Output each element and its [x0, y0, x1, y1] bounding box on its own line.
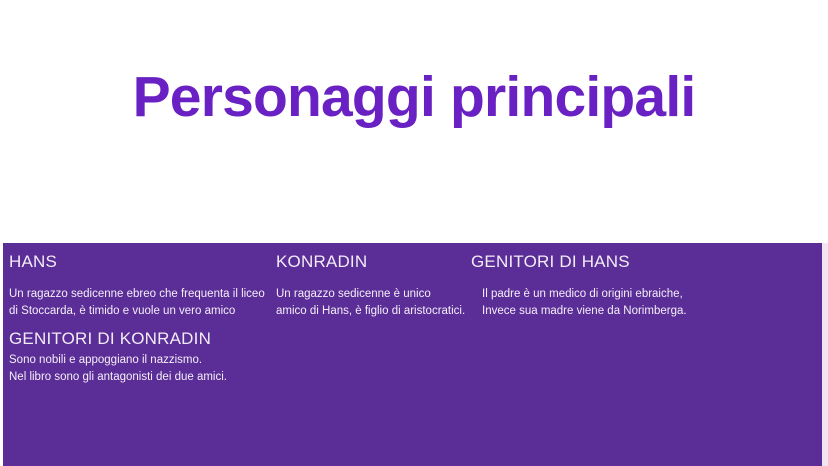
character-block-genitori-di-konradin: GENITORI DI KONRADIN Sono nobili e appog…: [9, 329, 227, 386]
slide-canvas: Personaggi principali HANS Un ragazzo se…: [0, 0, 828, 466]
band-right-edge-strip: [822, 243, 828, 466]
character-heading-hans: HANS: [9, 252, 265, 272]
character-heading-konradin: KONRADIN: [276, 252, 465, 272]
character-heading-genitori-di-hans: GENITORI DI HANS: [471, 252, 687, 272]
character-description-genitori-di-hans: Il padre è un medico di origini ebraiche…: [482, 286, 687, 319]
character-block-hans: HANS Un ragazzo sedicenne ebreo che freq…: [9, 252, 265, 320]
character-description-konradin: Un ragazzo sedicenne è unico amico di Ha…: [276, 286, 465, 319]
character-block-konradin: KONRADIN Un ragazzo sedicenne è unico am…: [276, 252, 465, 320]
page-title: Personaggi principali: [0, 66, 828, 129]
character-block-genitori-di-hans: GENITORI DI HANS Il padre è un medico di…: [471, 252, 687, 320]
character-heading-genitori-di-konradin: GENITORI DI KONRADIN: [9, 329, 227, 349]
character-description-hans: Un ragazzo sedicenne ebreo che frequenta…: [9, 286, 265, 319]
character-description-genitori-di-konradin: Sono nobili e appoggiano il nazzismo. Ne…: [9, 352, 227, 385]
